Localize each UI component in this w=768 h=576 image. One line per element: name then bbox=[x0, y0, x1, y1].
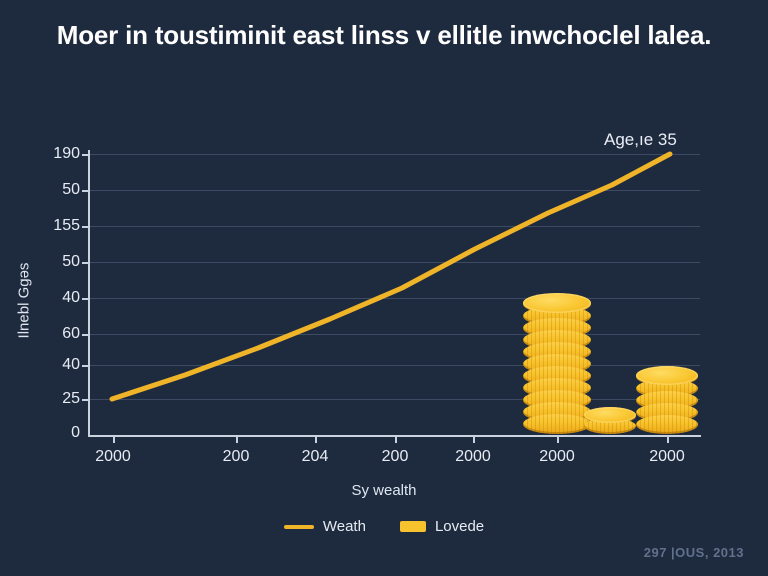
x-tick-label: 2000 bbox=[95, 448, 131, 466]
x-tick bbox=[113, 436, 115, 443]
coin bbox=[636, 415, 698, 434]
x-tick-label: 2000 bbox=[455, 448, 491, 466]
legend-label: Weath bbox=[323, 518, 366, 535]
chart-screenshot: Moer in toustiminit east linss v ellitle… bbox=[0, 0, 768, 576]
x-tick-label: 204 bbox=[302, 448, 329, 466]
x-tick bbox=[315, 436, 317, 443]
legend-label: Lovede bbox=[435, 518, 484, 535]
coin-top-face bbox=[584, 407, 636, 423]
x-tick bbox=[395, 436, 397, 443]
bar-swatch-icon bbox=[400, 521, 426, 532]
x-tick bbox=[557, 436, 559, 443]
line-swatch-icon bbox=[284, 525, 314, 529]
x-tick-label: 200 bbox=[382, 448, 409, 466]
coin bbox=[523, 414, 591, 434]
footer-source-note: 297 |OUS, 2013 bbox=[644, 545, 744, 560]
legend-item-lovede[interactable]: Lovede bbox=[400, 518, 484, 535]
x-tick bbox=[236, 436, 238, 443]
x-tick bbox=[667, 436, 669, 443]
x-tick bbox=[473, 436, 475, 443]
legend-item-weath[interactable]: Weath bbox=[284, 518, 366, 535]
coin-top-face bbox=[636, 366, 698, 385]
x-tick-label: 200 bbox=[223, 448, 250, 466]
legend: Weath Lovede bbox=[0, 518, 768, 535]
coin-stacks-layer bbox=[0, 0, 768, 436]
x-axis-title: Sy wealth bbox=[0, 482, 768, 499]
x-tick-label: 2000 bbox=[649, 448, 685, 466]
x-tick-label: 2000 bbox=[539, 448, 575, 466]
coin-top-face bbox=[523, 293, 591, 313]
